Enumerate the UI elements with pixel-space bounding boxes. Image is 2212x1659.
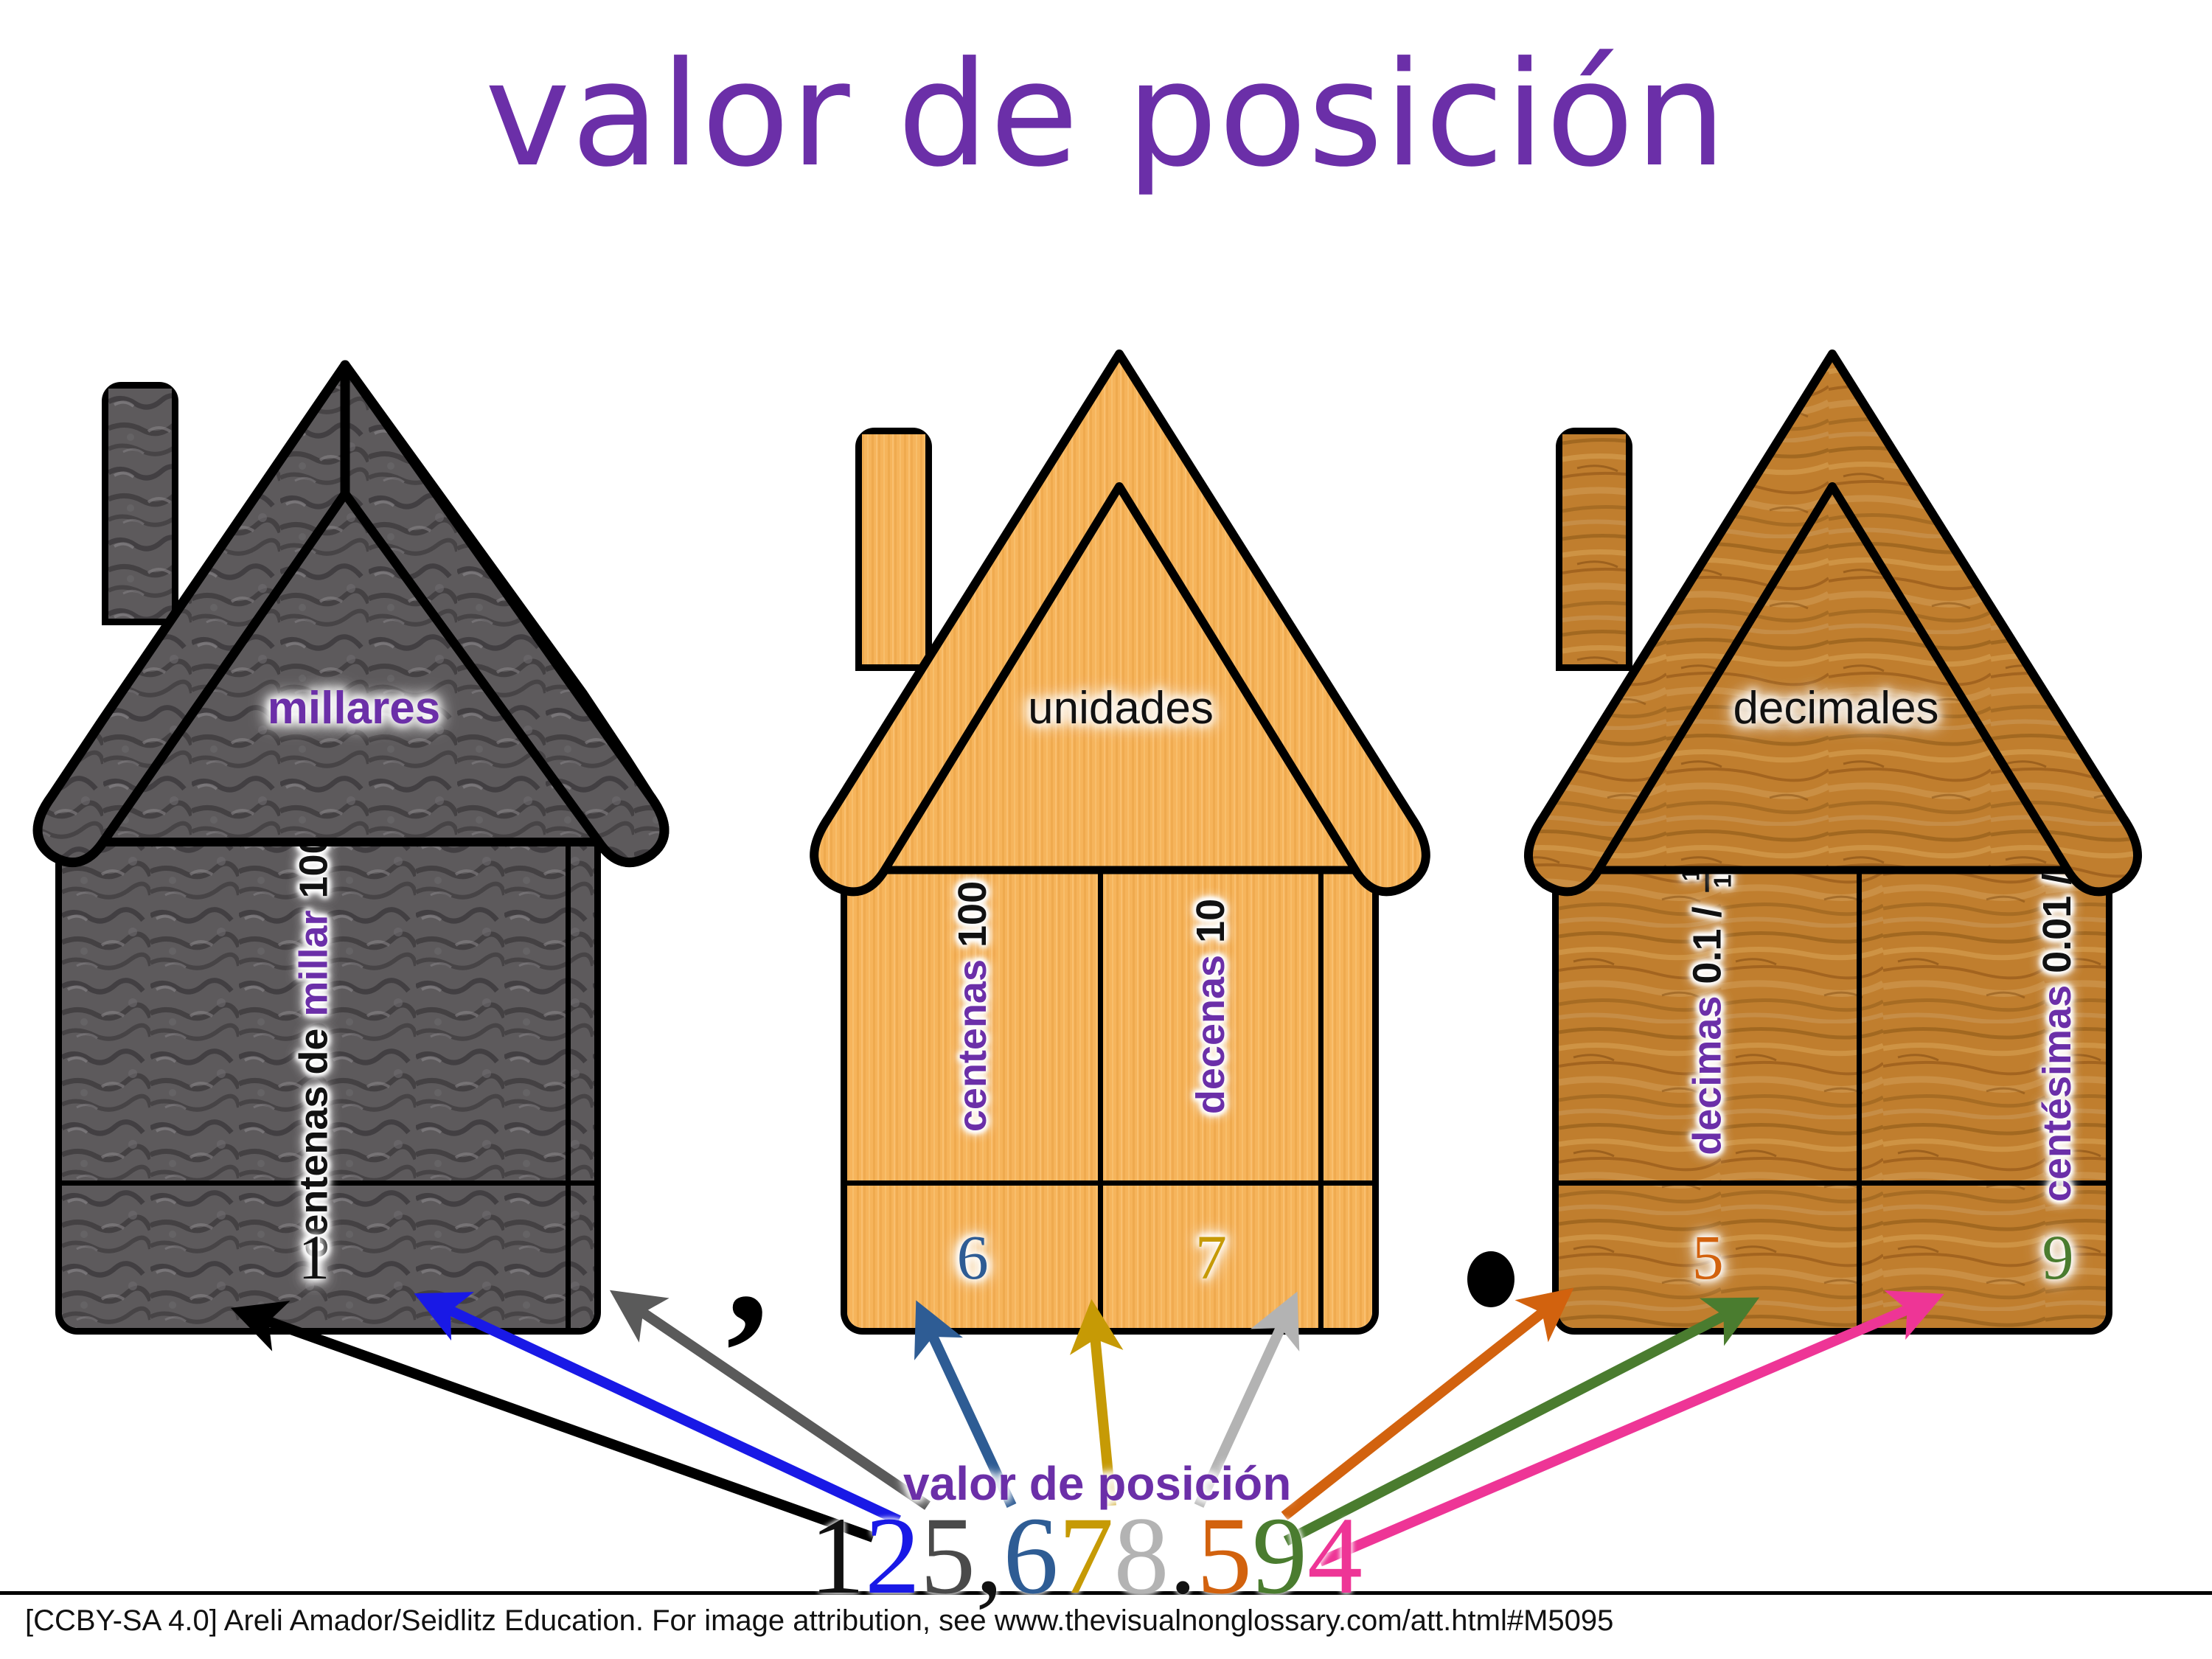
col-value: 100,000 xyxy=(291,826,337,898)
roof-label-unidades: unidades xyxy=(782,682,1460,734)
digit: 7 xyxy=(1195,1220,1227,1294)
digit: 1 xyxy=(298,1220,330,1294)
column-label-cell: decenas de millar 10,000 xyxy=(571,832,601,1186)
chimney xyxy=(1556,428,1632,671)
column-decenas[interactable]: decenas 10 7 xyxy=(1103,832,1324,1328)
fraction-denominator: 100 xyxy=(2056,826,2086,859)
fraction-numerator: 1 xyxy=(1680,864,1705,886)
col-value: 10 xyxy=(1188,898,1234,942)
col-name-accent: decenas xyxy=(1188,954,1234,1113)
digit-cell[interactable]: 9 xyxy=(1862,1186,2112,1328)
roof-label-decimales: decimales xyxy=(1504,682,2168,734)
chimney xyxy=(102,382,178,625)
arrow-to-digit-1 xyxy=(243,1312,873,1537)
col-value: 0.01 / xyxy=(2035,874,2081,973)
num-part-0: 1 xyxy=(810,1495,865,1617)
house-body: centenas 100 6 decenas 10 xyxy=(841,826,1379,1335)
house-body: centenas de millar 100,000 1 decenas de … xyxy=(55,826,601,1335)
num-part-10: 4 xyxy=(1307,1495,1363,1617)
column-label-cell: centésimas 0.01 / 1 100 xyxy=(1862,832,2112,1186)
column-decimas[interactable]: decimas 0.1 / 1 10 5 xyxy=(1559,832,1862,1328)
num-part-3: , xyxy=(975,1495,1004,1617)
fraction-numerator: 1 xyxy=(2030,826,2056,845)
col-name-accent: centésimas xyxy=(2035,985,2081,1202)
col-value: 0.1 / xyxy=(1685,907,1731,984)
col-name-accent: centenas xyxy=(950,959,995,1131)
digit-cell[interactable]: 6 xyxy=(847,1186,1098,1328)
column-centesimas[interactable]: centésimas 0.01 / 1 100 9 xyxy=(1862,832,2112,1328)
roof-label-millares: millares xyxy=(15,682,693,734)
num-part-7: . xyxy=(1169,1495,1197,1617)
house-decimales: decimales decimas 0.1 / 1 10 xyxy=(1504,347,2205,1342)
col-name-accent: millar xyxy=(291,910,337,1016)
column-unidades[interactable]: unidades 1 8 xyxy=(1324,832,1379,1328)
digit-cell[interactable]: 7 xyxy=(1103,1186,1318,1328)
column-label-cell: decenas 10 xyxy=(1103,832,1318,1186)
house-body: decimas 0.1 / 1 10 5 xyxy=(1552,826,2112,1335)
digit-cell[interactable]: 8 xyxy=(1324,1186,1379,1328)
column-centenas-de-millar[interactable]: centenas de millar 100,000 1 xyxy=(62,832,571,1328)
digit-cell[interactable]: 1 xyxy=(62,1186,566,1328)
num-part-1: 2 xyxy=(865,1495,920,1617)
page-title: valor de posición xyxy=(0,43,2212,187)
fraction-denominator: 10 xyxy=(1705,857,1736,891)
num-part-4: 6 xyxy=(1004,1495,1059,1617)
house-millares: millares centenas de millar 100,000 1 xyxy=(15,347,752,1342)
num-part-2: 5 xyxy=(920,1495,975,1617)
poster-canvas: valor de posición xyxy=(0,0,2212,1659)
column-label-cell: decimas 0.1 / 1 10 xyxy=(1559,832,1857,1186)
digit: 6 xyxy=(957,1220,989,1294)
column-centenas[interactable]: centenas 100 6 xyxy=(847,832,1103,1328)
digit: 5 xyxy=(1692,1220,1724,1294)
column-decenas-de-millar[interactable]: decenas de millar 10,000 2 xyxy=(571,832,601,1328)
place-value-number: 125,678.594 xyxy=(810,1500,1363,1611)
column-label-cell: centenas de millar 100,000 xyxy=(62,832,566,1186)
col-name-accent: decimas xyxy=(1685,996,1731,1155)
digit: 9 xyxy=(2042,1220,2074,1294)
digit-cell[interactable]: 5 xyxy=(1559,1186,1857,1328)
digit-cell[interactable]: 2 xyxy=(571,1186,601,1328)
num-part-8: 5 xyxy=(1197,1495,1252,1617)
num-part-6: 8 xyxy=(1114,1495,1169,1617)
num-part-5: 7 xyxy=(1059,1495,1114,1617)
column-label-cell: unidades 1 xyxy=(1324,832,1379,1186)
thousands-separator: , xyxy=(726,1180,769,1349)
col-value: 100 xyxy=(950,880,995,947)
fraction: 1 10 xyxy=(1680,857,1736,891)
column-label-cell: centenas 100 xyxy=(847,832,1098,1186)
num-part-9: 9 xyxy=(1252,1495,1307,1617)
chimney xyxy=(855,428,932,671)
house-unidades: unidades centenas 100 6 xyxy=(782,347,1504,1342)
fraction: 1 100 xyxy=(2030,826,2087,859)
